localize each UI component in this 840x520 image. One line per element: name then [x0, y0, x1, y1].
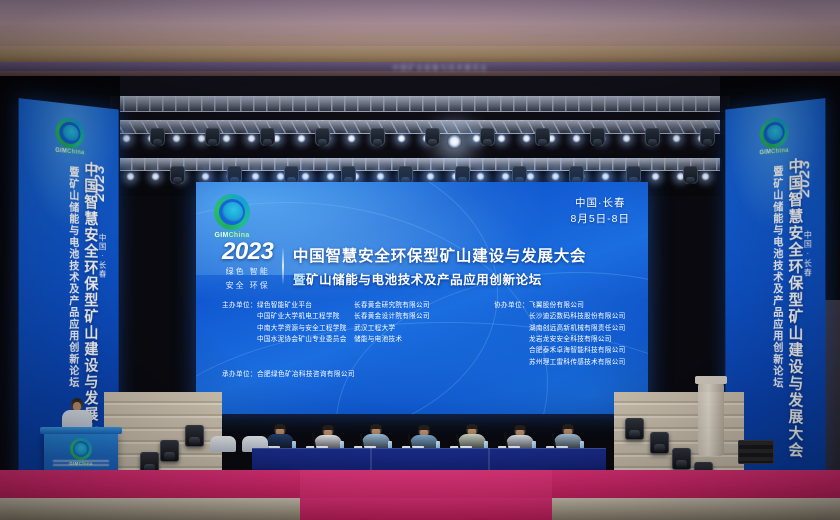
coorganizer-item: 合肥泰禾卓海智能科技有限公司 [529, 345, 626, 356]
undertaker-row: 承办单位： 合肥绿色矿冶科技咨询有限公司 [222, 368, 355, 378]
moving-head-light [315, 128, 330, 146]
banner-right-logo-sub: China [771, 148, 789, 156]
truss-mid [110, 120, 730, 134]
moving-head-light [480, 128, 495, 146]
coorganizer-label: 协办单位： [494, 300, 529, 368]
stage-lamp [397, 134, 406, 143]
year-block: 2023 绿色 智能 安全 环保 [222, 240, 273, 292]
moving-head-light [150, 128, 165, 146]
moving-head-light [170, 166, 185, 184]
coorganizer-item: 湖南创远高新机械有限责任公司 [529, 323, 626, 334]
screen-logo: GIMChina [214, 194, 250, 239]
panelist-hair [515, 425, 526, 430]
empty-chair [210, 436, 236, 452]
host-item: 中国水泥协会矿山专业委员会 [257, 334, 347, 345]
event-date-block: 中国·长春 8月5日-8日 [570, 196, 630, 228]
conference-stage-photo: 中国矿业装备与技术展览会 GIMChina 2023 中国智慧安全环保型矿山建设… [0, 0, 840, 520]
front-ledge-carpet-gap [300, 498, 552, 520]
stage-lamp [497, 134, 506, 143]
undertaker-name: 合肥绿色矿冶科技咨询有限公司 [257, 368, 355, 378]
host-item: 长春黄金研究院有限公司 [354, 300, 430, 311]
stage-lamp [247, 134, 256, 143]
podium-title-lines [49, 460, 113, 466]
undertaker-label: 承办单位： [222, 368, 257, 378]
host-list-2: 长春黄金研究院有限公司 长春黄金设计院有限公司 武汉工程大学 储能与电池技术 [354, 300, 430, 368]
stage-lamp [447, 134, 462, 149]
stage-lamp [701, 172, 710, 181]
host-column-2: 长春黄金研究院有限公司 长春黄金设计院有限公司 武汉工程大学 储能与电池技术 [354, 300, 472, 368]
banner-right-logo-main: GIM [760, 149, 772, 156]
gim-china-logo-icon [214, 194, 250, 230]
stage-lamp [326, 172, 335, 181]
moving-head-light [700, 128, 715, 146]
panelist-hair [323, 425, 334, 430]
banner-right-title-sub: 暨矿山储能与电池技术及产品应用创新论坛 [771, 165, 785, 389]
host-column-1: 主办单位： 绿色智能矿业平台 中国矿业大学机电工程学院 中南大学资源与安全工程学… [222, 300, 354, 368]
coorganizer-item: 飞翼股份有限公司 [529, 300, 626, 311]
conference-title-sub-wrap: 暨矿山储能与电池技术及产品应用创新论坛 [293, 269, 586, 288]
moving-head-light [645, 128, 660, 146]
coorganizer-item: 长沙迪迈数码科技股份有限公司 [529, 311, 626, 322]
floor-moving-light [625, 418, 644, 440]
screen-title-row: 2023 绿色 智能 安全 环保 中国智慧安全环保型矿山建设与发展大会 暨矿山储… [222, 240, 634, 292]
host-item: 储能与电池技术 [354, 334, 430, 345]
event-location: 中国·长春 [570, 196, 630, 212]
panelist-hair [419, 425, 430, 430]
venue-wall-text: 中国矿业装备与技术展览会 [392, 63, 672, 72]
panelist-hair [563, 424, 574, 429]
conference-title-sub-prefix: 暨 [293, 273, 306, 287]
stage-lamp [526, 172, 535, 181]
coorganizer-list: 飞翼股份有限公司 长沙迪迈数码科技股份有限公司 湖南创远高新机械有限责任公司 龙… [529, 300, 626, 368]
host-item: 中国矿业大学机电工程学院 [257, 311, 347, 322]
stage-lamp [201, 172, 210, 181]
stage-lamp [251, 172, 260, 181]
host-item: 武汉工程大学 [354, 323, 430, 334]
coorganizer-item: 苏州理工雷科传感技术有限公司 [529, 357, 626, 368]
stage-lamp [376, 172, 385, 181]
stage-lamp [172, 134, 181, 143]
stage-lamp [222, 134, 231, 143]
flight-case [738, 440, 774, 464]
conference-title-sub: 矿山储能与电池技术及产品应用创新论坛 [306, 273, 542, 287]
title-stack: 中国智慧安全环保型矿山建设与发展大会 暨矿山储能与电池技术及产品应用创新论坛 [293, 244, 586, 288]
coorganizer-item: 龙岩龙安安全科技有限公司 [529, 334, 626, 345]
host-list-1: 绿色智能矿业平台 中国矿业大学机电工程学院 中南大学资源与安全工程学院 中国水泥… [257, 300, 347, 368]
stage-lamp [301, 172, 310, 181]
stage-lamp [122, 134, 131, 143]
moving-head-light [590, 128, 605, 146]
banner-right-logo: GIMChina [725, 113, 825, 124]
gim-china-logo-icon [70, 438, 92, 460]
floor-moving-light [160, 440, 179, 462]
banner-left-logo-sub: China [67, 149, 84, 157]
stage-lamp [501, 172, 510, 181]
truss-upper [110, 96, 730, 112]
moving-head-light [370, 128, 385, 146]
stage-lamp [126, 172, 135, 181]
stage-lamp [522, 134, 531, 143]
floor-moving-light [672, 448, 691, 470]
stage-lamp [426, 172, 435, 181]
coorganizer-column: 协办单位： 飞翼股份有限公司 长沙迪迈数码科技股份有限公司 湖南创远高新机械有限… [472, 300, 636, 368]
event-dates: 8月5日-8日 [570, 212, 630, 228]
moving-head-light [205, 128, 220, 146]
stage-lamp [347, 134, 356, 143]
panelist-hair [371, 424, 382, 429]
floor-moving-light [650, 432, 669, 454]
banner-right-location: 中国·长春 [802, 230, 813, 277]
gim-china-logo-icon [760, 116, 789, 149]
gim-china-logo-icon [55, 116, 84, 149]
stage-lamp [622, 134, 631, 143]
organizers-block: 主办单位： 绿色智能矿业平台 中国矿业大学机电工程学院 中南大学资源与安全工程学… [222, 300, 636, 368]
host-label: 主办单位： [222, 300, 257, 368]
banner-left-title-sub: 暨矿山储能与电池技术及产品应用创新论坛 [67, 166, 81, 389]
event-year: 2023 [222, 240, 273, 264]
host-item: 中南大学资源与安全工程学院 [257, 323, 347, 334]
banner-right-title-main: 中国智慧安全环保型矿山建设与发展大会 [785, 157, 806, 459]
podium-top-surface [40, 427, 122, 434]
title-divider [282, 247, 284, 285]
stage-lamp [551, 172, 560, 181]
slogan-line-2: 安全 环保 [226, 281, 270, 292]
banner-left-logo: GIMChina [19, 113, 119, 124]
stone-balustrade [698, 382, 724, 456]
moving-head-light [683, 166, 698, 184]
banner-left-location: 中国·长春 [97, 233, 107, 278]
host-item: 绿色智能矿业平台 [257, 300, 347, 311]
moving-head-light [425, 128, 440, 146]
slogan-line-1: 绿色 智能 [226, 267, 270, 278]
conference-title-main: 中国智慧安全环保型矿山建设与发展大会 [293, 244, 586, 266]
led-screen: GIMChina 中国·长春 8月5日-8日 2023 绿色 智能 安全 环保 … [196, 182, 648, 414]
floor-moving-light [185, 425, 204, 447]
stage-lamp [476, 172, 485, 181]
ceiling-beam [0, 46, 840, 62]
moving-head-light [535, 128, 550, 146]
host-item: 长春黄金设计院有限公司 [354, 311, 430, 322]
stage-lamp [601, 172, 610, 181]
stage-lamp [651, 172, 660, 181]
moving-head-light [260, 128, 275, 146]
panelist-hair [467, 424, 478, 429]
panelist-hair [275, 424, 286, 429]
banner-left-logo-main: GIM [55, 148, 67, 155]
stage-lamp [572, 134, 581, 143]
stage-lamp [151, 172, 160, 181]
stage-lamp [297, 134, 306, 143]
stage-lamp [672, 134, 681, 143]
